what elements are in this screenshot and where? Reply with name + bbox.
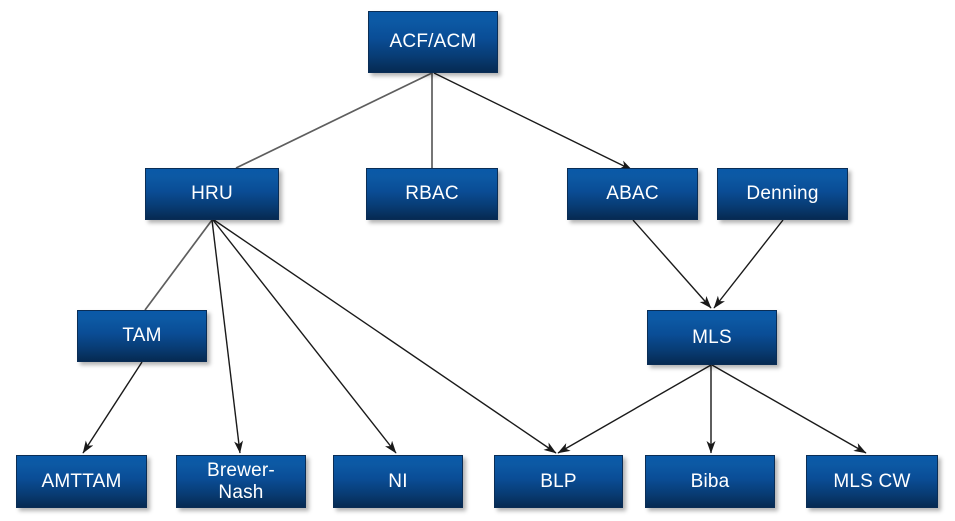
edge-mls-to-blp	[558, 365, 711, 453]
node-amttam[interactable]: AMTTAM	[16, 455, 147, 508]
edge-mls-to-mls_cw	[712, 365, 866, 453]
edge-layer	[0, 0, 955, 521]
edge-denning-to-mls	[714, 220, 783, 308]
node-hru[interactable]: HRU	[145, 168, 279, 220]
edge-acf_acm-to-abac	[434, 73, 632, 170]
node-mls[interactable]: MLS	[647, 310, 777, 365]
edge-abac-to-mls	[633, 220, 711, 308]
node-mls_cw[interactable]: MLS CW	[806, 455, 938, 508]
node-brewer_nash[interactable]: Brewer- Nash	[176, 455, 306, 508]
edge-hru-to-blp	[214, 220, 556, 453]
node-abac[interactable]: ABAC	[567, 168, 698, 220]
node-tam[interactable]: TAM	[77, 310, 207, 362]
node-ni[interactable]: NI	[333, 455, 463, 508]
node-denning[interactable]: Denning	[717, 168, 848, 220]
edge-tam-to-amttam	[83, 362, 142, 453]
node-acf_acm[interactable]: ACF/ACM	[368, 11, 498, 73]
edge-hru-to-ni	[213, 220, 396, 453]
edge-hru-to-tam	[145, 220, 212, 310]
node-rbac[interactable]: RBAC	[366, 168, 498, 220]
diagram-canvas: ACF/ACMHRURBACABACDenningTAMMLSAMTTAMBre…	[0, 0, 955, 521]
edge-hru-to-brewer_nash	[212, 220, 240, 453]
node-blp[interactable]: BLP	[494, 455, 623, 508]
edge-acf_acm-to-hru	[236, 73, 432, 168]
node-biba[interactable]: Biba	[645, 455, 775, 508]
